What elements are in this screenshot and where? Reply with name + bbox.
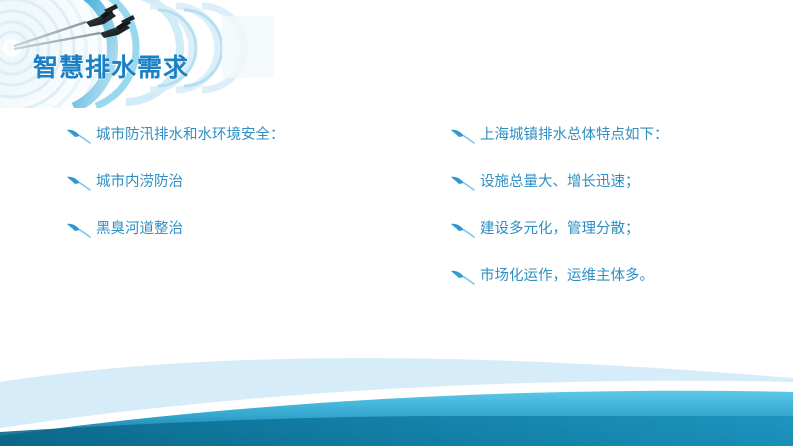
list-item: 建设多元化，管理分散； <box>450 220 780 267</box>
left-column: 城市防汛排水和水环境安全： 城市内涝防治 黑 <box>66 126 426 267</box>
blue-wave <box>0 391 793 446</box>
deep-wave <box>0 416 793 446</box>
list-item: 市场化运作，运维主体多。 <box>450 267 780 314</box>
list-item-label: 市场化运作，运维主体多。 <box>480 267 654 285</box>
page-title: 智慧排水需求 <box>33 48 189 84</box>
list-item: 城市防汛排水和水环境安全： <box>66 126 426 173</box>
list-item: 设施总量大、增长迅速； <box>450 173 780 220</box>
content-area: 城市防汛排水和水环境安全： 城市内涝防治 黑 <box>0 126 793 326</box>
arrow-bullet-icon <box>66 222 92 240</box>
arrow-bullet-icon <box>450 128 476 146</box>
wave-separator <box>0 381 793 436</box>
footer-decoration <box>0 336 793 446</box>
pale-wave <box>0 358 793 446</box>
arrow-bullet-icon <box>450 222 476 240</box>
arrow-bullet-icon <box>66 128 92 146</box>
list-item-label: 设施总量大、增长迅速； <box>480 173 640 191</box>
list-item-label: 城市内涝防治 <box>96 173 183 191</box>
arrow-bullet-icon <box>450 269 476 287</box>
list-item: 黑臭河道整治 <box>66 220 426 267</box>
list-item-label: 上海城镇排水总体特点如下： <box>480 126 669 144</box>
right-column: 上海城镇排水总体特点如下： 设施总量大、增长迅速； <box>450 126 780 314</box>
list-item-label: 城市防汛排水和水环境安全： <box>96 126 285 144</box>
arrow-bullet-icon <box>450 175 476 193</box>
list-item-label: 黑臭河道整治 <box>96 220 183 238</box>
slide-canvas: 智慧排水需求 城市防汛排水和水环境安全： <box>0 0 793 446</box>
list-item: 上海城镇排水总体特点如下： <box>450 126 780 173</box>
arrow-icon <box>14 15 135 49</box>
arrow-bullet-icon <box>66 175 92 193</box>
arrow-icon <box>14 4 118 46</box>
list-item-label: 建设多元化，管理分散； <box>480 220 640 238</box>
list-item: 城市内涝防治 <box>66 173 426 220</box>
